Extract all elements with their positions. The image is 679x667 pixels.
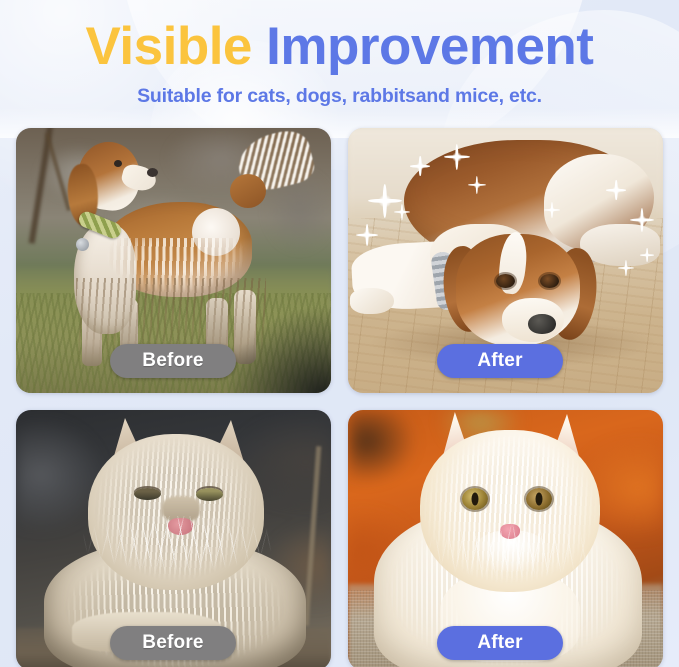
dog-nose xyxy=(147,168,158,177)
cat-whiskers xyxy=(68,516,288,580)
cat-whiskers xyxy=(404,522,620,584)
before-after-grid: Before xyxy=(16,128,663,667)
cat-eye-left xyxy=(462,488,488,510)
badge-before-dog: Before xyxy=(110,344,236,378)
panel-cat-after: After xyxy=(348,410,663,667)
dog-eye xyxy=(114,160,122,167)
badge-before-cat: Before xyxy=(110,626,236,660)
dog-paw xyxy=(350,288,394,314)
cat-eye-right xyxy=(526,488,552,510)
dog-eye-left xyxy=(496,274,515,288)
dog-tail-base xyxy=(230,174,266,208)
title-word-improvement: Improvement xyxy=(266,17,593,76)
header: Visible Improvement Suitable for cats, d… xyxy=(0,0,679,108)
panel-dog-after: After xyxy=(348,128,663,393)
page-title: Visible Improvement xyxy=(0,18,679,75)
page-subtitle: Suitable for cats, dogs, rabbitsand mice… xyxy=(0,85,679,108)
badge-after-dog: After xyxy=(437,344,563,378)
cat-eye-left xyxy=(134,488,161,500)
title-word-visible: Visible xyxy=(86,17,252,76)
badge-after-cat: After xyxy=(437,626,563,660)
dog-nose xyxy=(528,314,556,334)
panel-cat-before: Before xyxy=(16,410,331,667)
dog-collar-tag xyxy=(76,238,89,251)
corner-shadow xyxy=(211,293,331,393)
dog-eye-right xyxy=(540,274,559,288)
promo-page: Visible Improvement Suitable for cats, d… xyxy=(0,0,679,667)
cat-eye-right xyxy=(196,488,223,501)
panel-dog-before: Before xyxy=(16,128,331,393)
